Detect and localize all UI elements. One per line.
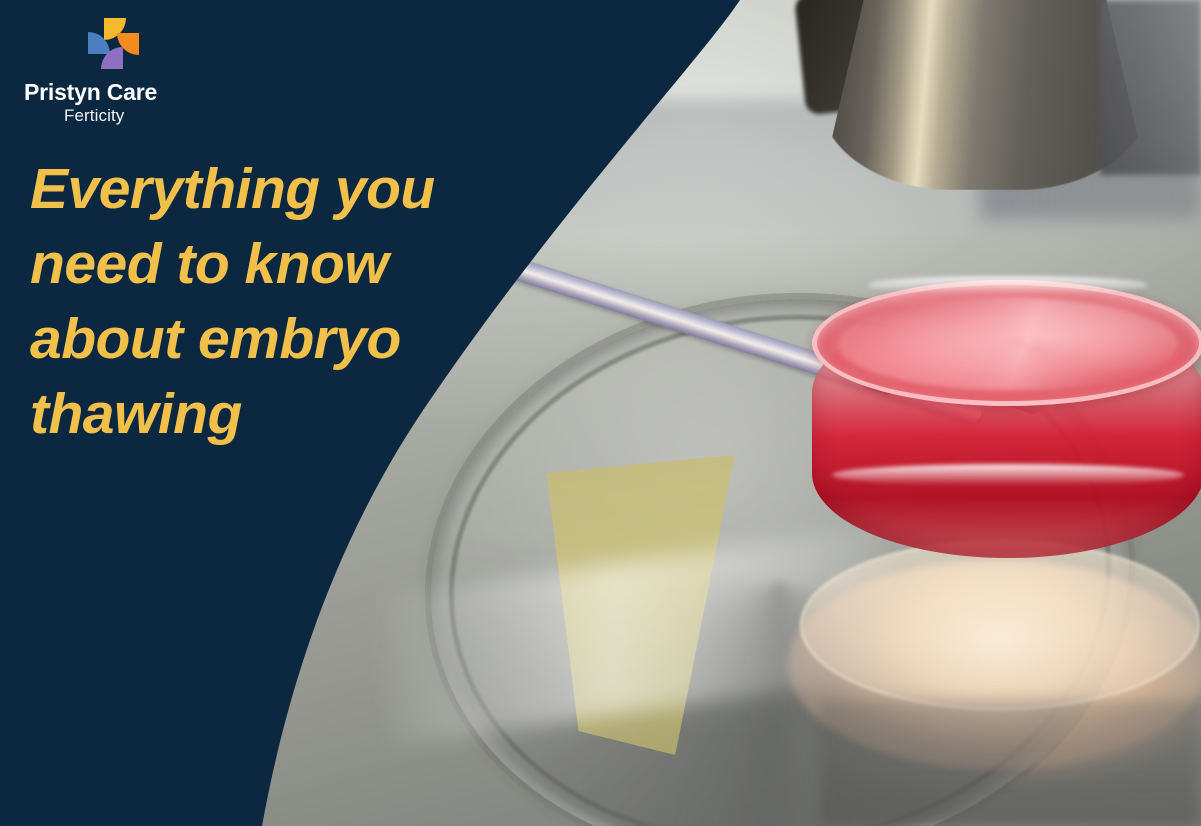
brand-name: Pristyn Care: [24, 80, 244, 104]
foreground-shadow: [820, 700, 1201, 826]
dish-rim-highlight: [868, 276, 1148, 294]
banner: Pristyn Care Ferticity Everything you ne…: [0, 0, 1201, 826]
brand-logo: Pristyn Care Ferticity: [24, 18, 244, 128]
pristyn-flower-icon: [86, 18, 142, 72]
petri-dish: [812, 268, 1201, 578]
headline: Everything you need to know about embryo…: [30, 152, 460, 452]
brand-sub-name: Ferticity: [64, 104, 244, 128]
liquid-highlight: [832, 464, 1184, 486]
headline-line-2: need to know: [30, 227, 460, 302]
headline-line-3: about embryo: [30, 302, 460, 377]
medium-surface-swirl: [838, 298, 1178, 390]
objective-right-shade: [1100, 0, 1201, 175]
headline-line-1: Everything you: [30, 152, 460, 227]
headline-line-4: thawing: [30, 377, 460, 452]
